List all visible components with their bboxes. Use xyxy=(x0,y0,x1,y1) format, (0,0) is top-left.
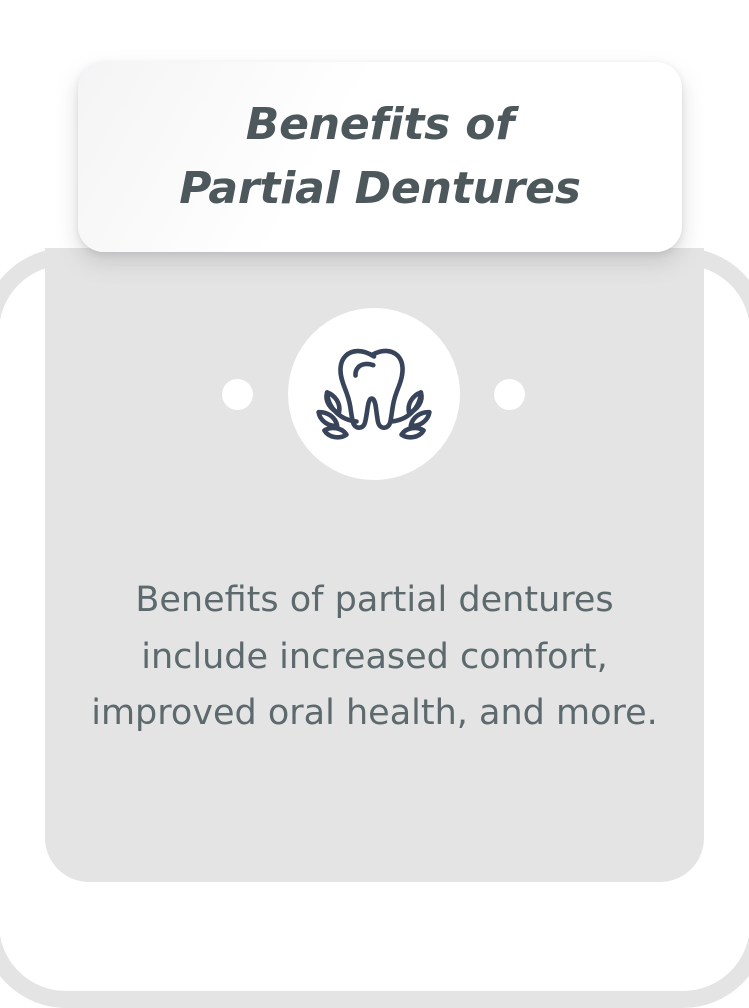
page-title: Benefits of Partial Dentures xyxy=(179,93,581,221)
title-card: Benefits of Partial Dentures xyxy=(78,62,682,252)
tooth-laurel-wreath-icon xyxy=(315,342,433,446)
decorative-dot-right xyxy=(494,379,525,410)
content-card: Benefits of partial dentures include inc… xyxy=(45,248,704,882)
card-stage: Benefits of partial dentures include inc… xyxy=(0,0,749,930)
card-description: Benefits of partial dentures include inc… xyxy=(70,572,679,742)
decorative-dot-left xyxy=(222,379,253,410)
icon-medallion xyxy=(288,308,460,480)
